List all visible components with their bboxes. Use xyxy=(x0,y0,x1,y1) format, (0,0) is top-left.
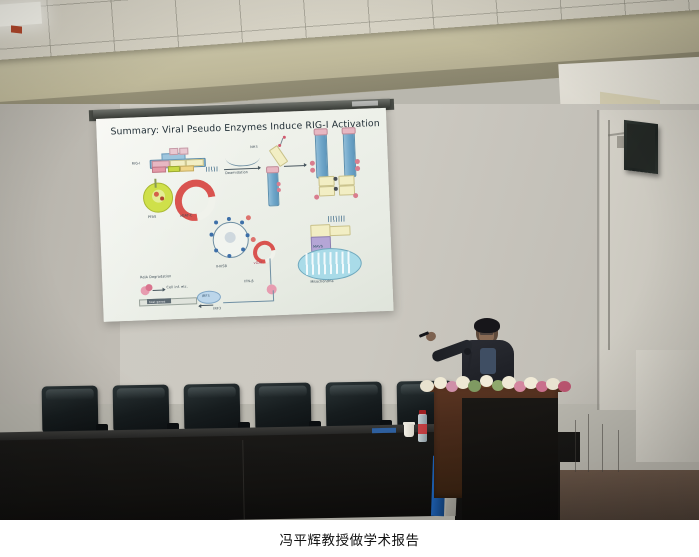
right-door-panel xyxy=(636,350,699,468)
chair-highlight xyxy=(117,387,164,399)
floor xyxy=(560,470,699,520)
screen-brand-label xyxy=(352,101,378,107)
slide-label-pfas: PFAS xyxy=(148,215,157,219)
rna-dashes xyxy=(328,215,346,222)
slide-label-mavs: MAVS xyxy=(313,244,323,248)
lecture-hall-photograph: Summary: Viral Pseudo Enzymes Induce RIG… xyxy=(0,0,699,520)
slide-label-mitochondria: Mitochondria xyxy=(310,279,333,284)
chair xyxy=(255,383,312,430)
irf3-node: IRF3 xyxy=(197,290,224,305)
rig-i-domain-diagram: RIG-I xyxy=(139,153,206,174)
cable xyxy=(602,424,603,472)
speaker-logo-icon xyxy=(11,25,22,33)
substrate-glyph xyxy=(269,137,296,168)
head-table-front xyxy=(0,431,463,520)
vgat-c-enzyme xyxy=(174,179,205,212)
chair xyxy=(326,382,383,429)
bottle-label xyxy=(418,424,427,434)
flower xyxy=(420,380,434,392)
virus-particle xyxy=(208,217,254,263)
cable xyxy=(588,414,589,472)
chair-highlight xyxy=(259,385,306,397)
cable xyxy=(618,430,619,472)
caption-text: 冯平辉教授做学术报告 xyxy=(280,529,420,549)
chair xyxy=(113,385,170,432)
slide-label-rig-i: RIG-I xyxy=(132,161,141,165)
slide-label-irf3: IRF3 xyxy=(202,294,210,298)
presenter-shirt xyxy=(480,348,496,374)
slide-label-nh3: NH3 xyxy=(250,145,258,149)
slide-label-cell-inf: Cell inf. etc. xyxy=(166,285,188,290)
foliage xyxy=(468,380,481,392)
paper-cup xyxy=(404,424,414,437)
slide-label-vgat: vGAT xyxy=(254,261,263,265)
chair xyxy=(184,384,241,431)
slide-label-rhvsb: rHVSB xyxy=(216,264,227,268)
rig-i-monomer xyxy=(264,170,282,211)
deamidation-reaction: NH3 Deamidation xyxy=(223,149,264,177)
mitochondrion: MAVS Mitochondria xyxy=(297,245,373,298)
blue-folder xyxy=(372,428,396,433)
screenshot-root: Summary: Viral Pseudo Enzymes Induce RIG… xyxy=(0,0,699,557)
slide-label-irf3-p: IRF3 xyxy=(213,306,221,310)
ceiling-light-panel xyxy=(0,2,42,28)
projection-screen: Summary: Viral Pseudo Enzymes Induce RIG… xyxy=(96,108,394,322)
flower-arrangement xyxy=(418,372,578,398)
chair-highlight xyxy=(188,386,235,398)
slide-label-host-genes: host genes xyxy=(149,299,166,304)
chair-highlight xyxy=(330,384,377,396)
wall-speaker xyxy=(624,120,658,174)
podium-shadow-column xyxy=(462,398,558,520)
speaker-grille xyxy=(627,123,655,170)
presenter-hair xyxy=(474,318,500,333)
chair xyxy=(42,386,99,433)
slide-label-vgat-c: vGAT-C xyxy=(180,213,193,217)
rig-i-oligomer xyxy=(309,131,370,211)
wall-corner-edge xyxy=(597,110,599,410)
caption-bar: 冯平辉教授做学术报告 xyxy=(0,520,699,557)
flower xyxy=(434,377,447,389)
cable xyxy=(575,420,576,472)
slide-label-deamidation: Deamidation xyxy=(225,170,248,175)
slide-label-ifn-beta: IFN-β xyxy=(244,279,254,283)
flower xyxy=(558,381,571,392)
wall-conduit xyxy=(608,120,610,350)
vgat-enzyme xyxy=(253,240,272,259)
pfas-enzyme xyxy=(143,182,174,213)
microphone-head xyxy=(464,348,471,355)
chair-highlight xyxy=(46,388,93,400)
slide-label-rela: RelA Degradation xyxy=(140,274,171,279)
